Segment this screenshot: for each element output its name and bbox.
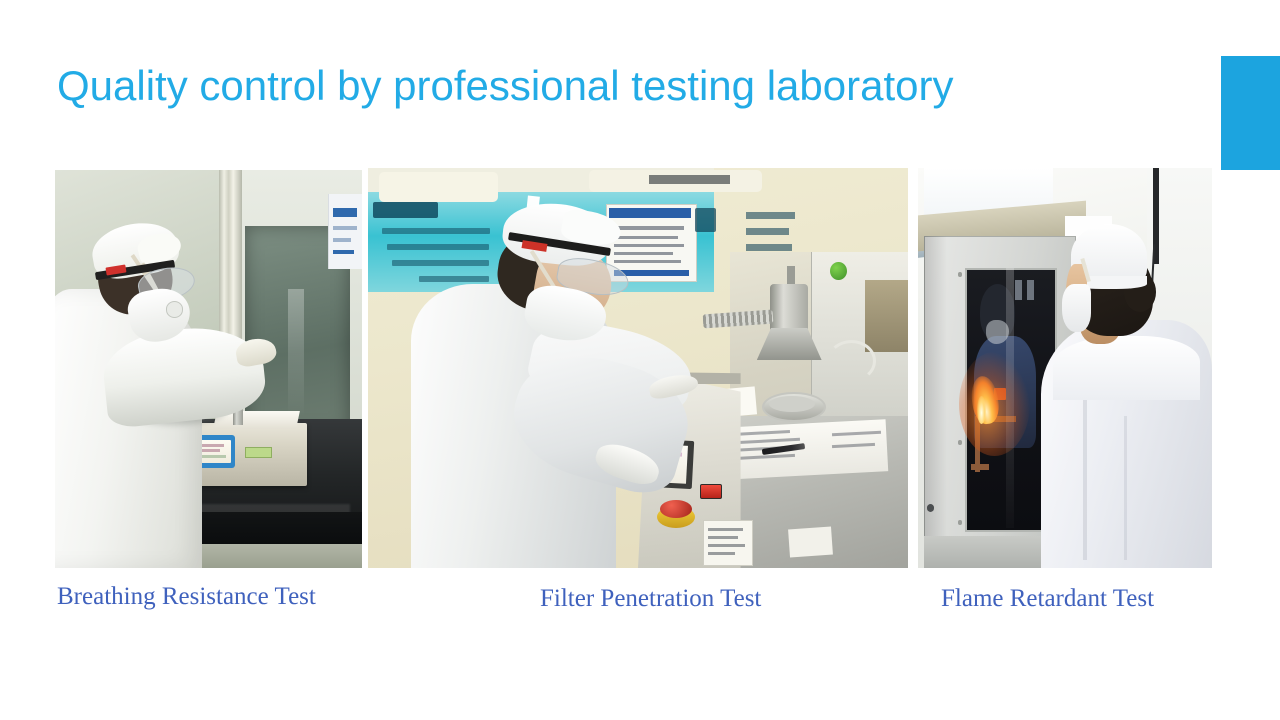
- photo-filter-penetration-test: [368, 168, 908, 568]
- photo-1-scene: [55, 170, 362, 568]
- wall-character: [695, 208, 717, 232]
- machine-dark-recess: [865, 280, 908, 352]
- wall-text-line: [746, 228, 789, 235]
- spec-label-line: [708, 544, 745, 547]
- photo-flame-retardant-test: [918, 168, 1212, 568]
- display-text-line: [201, 455, 226, 458]
- coat-fold: [1124, 416, 1128, 560]
- spec-label-line: [708, 536, 738, 539]
- info-panel-line: [614, 236, 679, 239]
- caption-filter-penetration-test: Filter Penetration Test: [540, 584, 761, 614]
- photo-3-scene: [918, 168, 1212, 568]
- flame-core: [977, 396, 986, 424]
- wall-banner-text-line: [382, 228, 490, 234]
- wall-banner-text-line: [419, 276, 489, 282]
- wall-text-line: [746, 244, 792, 251]
- wall-poster-text: [649, 175, 730, 184]
- coat-fold: [1083, 400, 1087, 560]
- chamber-shadow: [924, 236, 948, 568]
- chamber-inner-tube: [1027, 280, 1034, 300]
- wall-banner-card: [379, 172, 498, 202]
- sample-holder-inner: [769, 396, 814, 412]
- wall-text-line: [746, 212, 795, 219]
- chamber-hinge: [958, 272, 963, 277]
- chamber-hinge: [958, 520, 963, 525]
- aerosol-nozzle-head: [770, 284, 808, 332]
- white-hose: [827, 340, 876, 382]
- info-panel-line: [614, 260, 682, 263]
- info-panel-line: [614, 244, 684, 247]
- photo-breathing-resistance-test: [55, 170, 362, 568]
- wall-banner-text-line: [392, 260, 489, 266]
- display-text-line: [201, 449, 219, 452]
- white-tray: [788, 527, 833, 558]
- caption-flame-retardant-test: Flame Retardant Test: [941, 584, 1154, 614]
- emergency-stop-button[interactable]: [660, 500, 692, 518]
- caption-breathing-resistance-test: Breathing Resistance Test: [57, 582, 316, 612]
- machine-spec-label: [703, 520, 754, 566]
- slide-canvas: Quality control by professional testing …: [0, 0, 1280, 720]
- wall-document-line: [333, 238, 351, 242]
- info-panel-line: [614, 226, 684, 230]
- wall-document-line: [333, 226, 358, 230]
- tester-green-label: [245, 447, 272, 459]
- chamber-hinge: [958, 440, 963, 445]
- technician-shoulders: [1053, 336, 1200, 400]
- spec-label-line: [708, 528, 743, 531]
- page-title: Quality control by professional testing …: [57, 58, 1177, 114]
- wall-banner-text-line: [387, 244, 490, 250]
- accent-rectangle: [1221, 56, 1280, 170]
- wall-document-header: [333, 208, 358, 217]
- info-panel-line: [614, 252, 673, 255]
- photo-2-scene: [368, 168, 908, 568]
- info-panel-header: [609, 208, 692, 218]
- wall-banner-title-block: [373, 202, 438, 218]
- red-power-switch[interactable]: [700, 484, 721, 499]
- glass-glint: [288, 289, 303, 416]
- wall-document: [328, 194, 362, 270]
- wall-document-line: [333, 250, 354, 254]
- display-text-line: [201, 444, 224, 447]
- respirator-mask: [1062, 284, 1091, 332]
- chamber-inner-tube: [1015, 280, 1022, 300]
- burner-foot: [971, 464, 989, 470]
- glass-reflection-streak: [1006, 268, 1013, 528]
- spec-label-line: [708, 552, 735, 555]
- respirator-valve: [166, 301, 183, 317]
